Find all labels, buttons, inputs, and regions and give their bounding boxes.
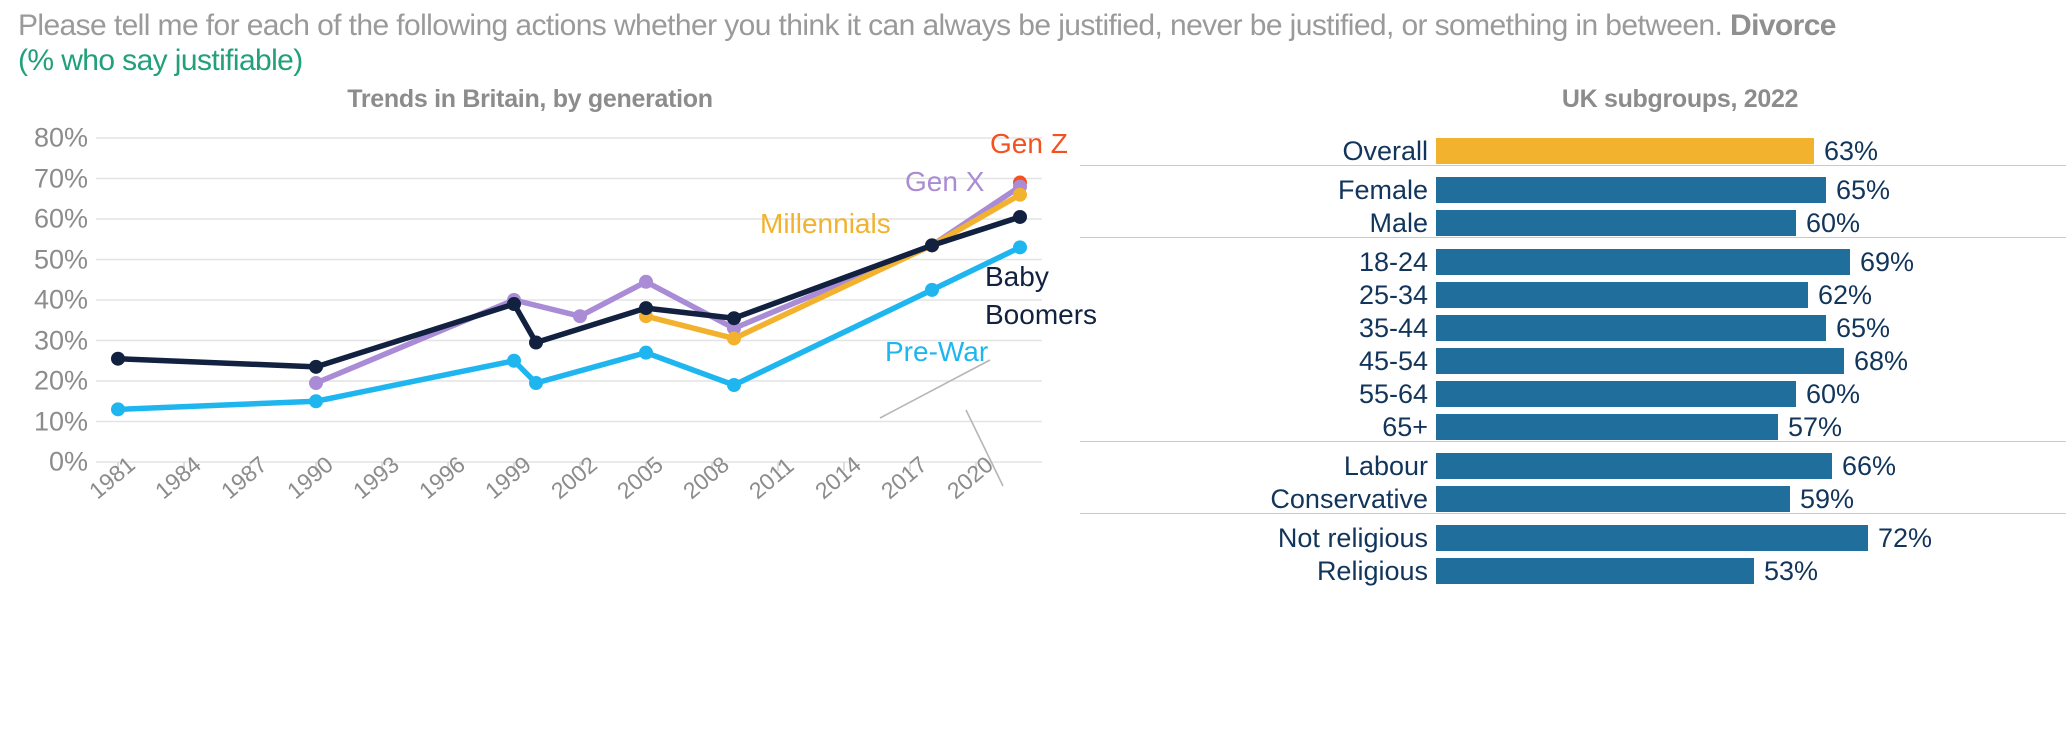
bar-fill [1436, 315, 1826, 341]
bar-fill [1436, 210, 1796, 236]
series-label-gen-z: Gen Z [990, 128, 1068, 160]
bar-category-label: Female [1080, 175, 1428, 205]
data-point [1013, 188, 1027, 202]
bar-row: 25-3462% [1080, 280, 2066, 310]
bar-value-label: 60% [1806, 210, 1860, 236]
line-chart: 0%10%20%30%40%50%60%70%80% 1981198419871… [0, 118, 1060, 738]
data-point [639, 346, 653, 360]
bar-value-label: 66% [1842, 453, 1896, 479]
data-point [507, 354, 521, 368]
bar-track: 69% [1436, 249, 2036, 275]
bar-row: 35-4465% [1080, 313, 2066, 343]
bar-track: 63% [1436, 138, 2036, 164]
group-divider [1080, 441, 2066, 442]
bar-category-label: Male [1080, 208, 1428, 238]
bar-fill [1436, 414, 1778, 440]
series-label-pre-war: Pre-War [885, 336, 988, 368]
data-point [309, 360, 323, 374]
bar-track: 60% [1436, 210, 2036, 236]
label-leader-line [880, 360, 990, 418]
bar-fill [1436, 525, 1868, 551]
bar-value-label: 62% [1818, 282, 1872, 308]
bar-row: 65+57% [1080, 412, 2066, 442]
bar-category-label: Religious [1080, 556, 1428, 586]
bar-category-label: Not religious [1080, 523, 1428, 553]
bar-fill [1436, 558, 1754, 584]
bar-fill [1436, 282, 1808, 308]
data-point [573, 309, 587, 323]
data-point [1013, 240, 1027, 254]
bar-track: 72% [1436, 525, 2036, 551]
question-subtitle: (% who say justifiable) [18, 44, 2048, 78]
bar-track: 62% [1436, 282, 2036, 308]
bar-value-label: 69% [1860, 249, 1914, 275]
bar-category-label: 45-54 [1080, 346, 1428, 376]
bar-fill [1436, 177, 1826, 203]
bar-chart-title: UK subgroups, 2022 [1330, 85, 2030, 114]
data-point [639, 301, 653, 315]
bar-chart: Overall63%Female65%Male60%18-2469%25-346… [1080, 118, 2066, 738]
question-body: Please tell me for each of the following… [18, 9, 1722, 42]
data-point [639, 275, 653, 289]
bar-category-label: 18-24 [1080, 247, 1428, 277]
bar-value-label: 65% [1836, 315, 1890, 341]
bar-row: Not religious72% [1080, 523, 2066, 553]
bar-category-label: 55-64 [1080, 379, 1428, 409]
bar-track: 60% [1436, 381, 2036, 407]
bar-category-label: 35-44 [1080, 313, 1428, 343]
data-point [111, 352, 125, 366]
question-text: Please tell me for each of the following… [18, 8, 2048, 44]
bar-value-label: 60% [1806, 381, 1860, 407]
bar-row: 55-6460% [1080, 379, 2066, 409]
bar-track: 68% [1436, 348, 2036, 374]
bar-fill [1436, 138, 1814, 164]
data-point [727, 311, 741, 325]
bar-category-label: Overall [1080, 136, 1428, 166]
bar-value-label: 57% [1788, 414, 1842, 440]
bar-track: 65% [1436, 177, 2036, 203]
data-point [309, 376, 323, 390]
bar-category-label: Conservative [1080, 484, 1428, 514]
bar-row: Religious53% [1080, 556, 2066, 586]
group-divider [1080, 513, 2066, 514]
bar-track: 57% [1436, 414, 2036, 440]
line-chart-plot [0, 118, 1060, 738]
bar-value-label: 68% [1854, 348, 1908, 374]
series-line-pre-war [118, 247, 1020, 409]
bar-fill [1436, 453, 1832, 479]
bar-category-label: 25-34 [1080, 280, 1428, 310]
bar-value-label: 65% [1836, 177, 1890, 203]
bar-category-label: Labour [1080, 451, 1428, 481]
bar-row: Conservative59% [1080, 484, 2066, 514]
bar-row: Male60% [1080, 208, 2066, 238]
bar-track: 59% [1436, 486, 2036, 512]
group-divider [1080, 165, 2066, 166]
bar-row: Female65% [1080, 175, 2066, 205]
bar-category-label: 65+ [1080, 412, 1428, 442]
bar-row: Overall63% [1080, 136, 2066, 166]
bar-value-label: 72% [1878, 525, 1932, 551]
data-point [925, 238, 939, 252]
chart-header: Please tell me for each of the following… [18, 8, 2048, 78]
data-point [529, 376, 543, 390]
data-point [111, 402, 125, 416]
bar-track: 53% [1436, 558, 2036, 584]
data-point [727, 378, 741, 392]
question-topic: Divorce [1730, 9, 1836, 42]
data-point [1013, 210, 1027, 224]
bar-fill [1436, 249, 1850, 275]
series-label-millennials: Millennials [760, 208, 891, 240]
bar-fill [1436, 348, 1844, 374]
data-point [925, 283, 939, 297]
bar-value-label: 53% [1764, 558, 1818, 584]
data-point [507, 297, 521, 311]
bar-fill [1436, 486, 1790, 512]
bar-row: 45-5468% [1080, 346, 2066, 376]
bar-row: Labour66% [1080, 451, 2066, 481]
group-divider [1080, 237, 2066, 238]
data-point [529, 336, 543, 350]
bar-value-label: 59% [1800, 486, 1854, 512]
data-point [309, 394, 323, 408]
bar-track: 65% [1436, 315, 2036, 341]
bar-value-label: 63% [1824, 138, 1878, 164]
line-chart-title: Trends in Britain, by generation [180, 85, 880, 114]
data-point [727, 331, 741, 345]
bar-row: 18-2469% [1080, 247, 2066, 277]
bar-track: 66% [1436, 453, 2036, 479]
bar-fill [1436, 381, 1796, 407]
series-label-gen-x: Gen X [905, 166, 984, 198]
